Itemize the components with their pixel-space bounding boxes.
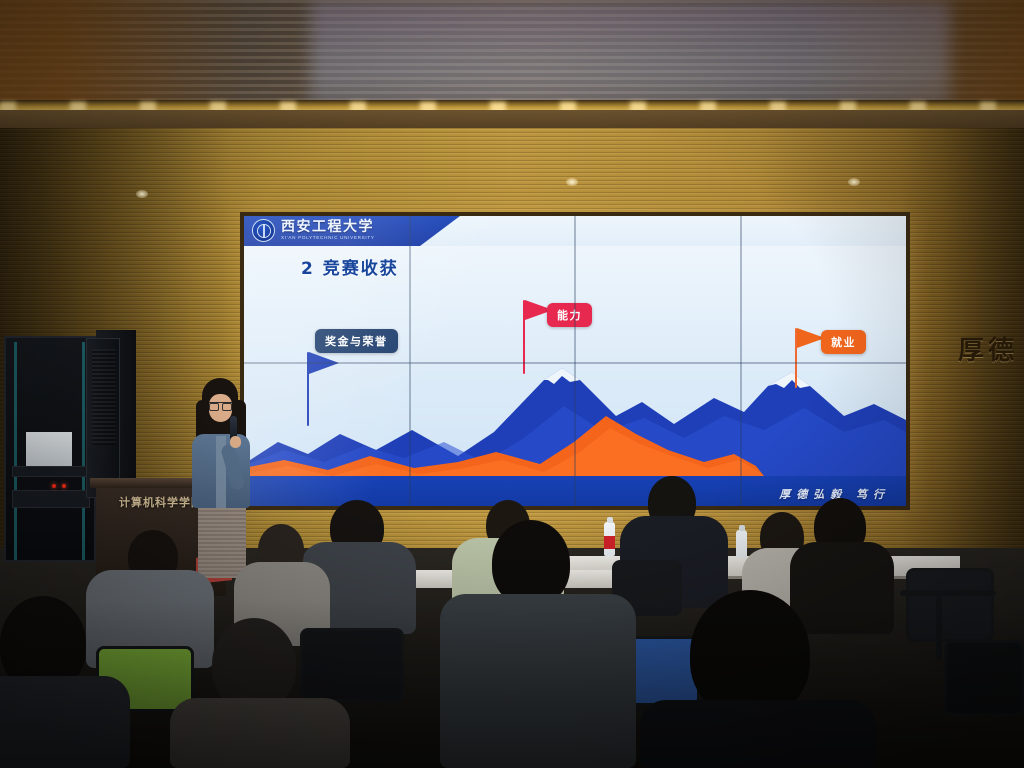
chair[interactable] bbox=[944, 640, 1024, 716]
university-name-cn: 西安工程大学 bbox=[281, 221, 375, 236]
bottle-label bbox=[604, 536, 615, 549]
chair-leg bbox=[936, 596, 942, 660]
status-led-icon bbox=[52, 484, 56, 488]
university-logo: 西安工程大学 XI'AN POLYTECHNIC UNIVERSITY bbox=[252, 219, 375, 242]
flag-badge-employment[interactable]: 就业 bbox=[821, 330, 866, 354]
university-seal-icon bbox=[252, 219, 275, 242]
slide-top-bar-notch bbox=[420, 216, 906, 246]
presenter-skirt bbox=[198, 504, 246, 578]
ceiling-downlight bbox=[136, 190, 148, 198]
glasses-icon bbox=[209, 402, 232, 408]
lecture-hall-photo: 厚德 厚德弘毅 笃行 奖金与荣誉 bbox=[0, 0, 1024, 768]
chair[interactable] bbox=[300, 628, 404, 702]
chair-arm bbox=[900, 590, 996, 596]
ceiling-downlight bbox=[566, 178, 578, 186]
video-wall-frame: 厚德弘毅 笃行 奖金与荣誉 能力 就业 bbox=[240, 212, 910, 510]
slide-title: 2 竞赛收获 bbox=[301, 254, 399, 279]
flag-badge-awards[interactable]: 奖金与荣誉 bbox=[315, 329, 398, 353]
university-name-en: XI'AN POLYTECHNIC UNIVERSITY bbox=[281, 235, 375, 240]
rack-rail bbox=[14, 342, 17, 560]
pa-speaker bbox=[86, 338, 120, 498]
water-bottle[interactable] bbox=[604, 522, 615, 556]
rack-paper-label bbox=[26, 432, 72, 466]
rack-rail bbox=[82, 342, 85, 560]
wall-motto-text: 厚德 bbox=[958, 330, 1024, 372]
bottle-cap bbox=[739, 525, 745, 531]
presentation-slide[interactable]: 厚德弘毅 笃行 奖金与荣誉 能力 就业 bbox=[244, 216, 906, 506]
chair[interactable] bbox=[906, 568, 994, 642]
panel-seam-vertical bbox=[409, 216, 411, 506]
equipment-rack bbox=[4, 336, 96, 562]
flag-badge-ability[interactable]: 能力 bbox=[547, 303, 592, 327]
rack-unit bbox=[12, 466, 90, 477]
panel-seam-vertical bbox=[574, 216, 576, 506]
presenter-hand bbox=[230, 436, 241, 448]
panel-seam-horizontal bbox=[244, 362, 906, 364]
rack-unit[interactable] bbox=[12, 490, 90, 508]
bottle-cap bbox=[607, 517, 613, 523]
status-led-icon bbox=[62, 484, 66, 488]
water-bottle[interactable] bbox=[736, 530, 747, 558]
presenter bbox=[186, 378, 256, 578]
panel-seam-vertical bbox=[740, 216, 742, 506]
ceiling-downlight bbox=[848, 178, 860, 186]
